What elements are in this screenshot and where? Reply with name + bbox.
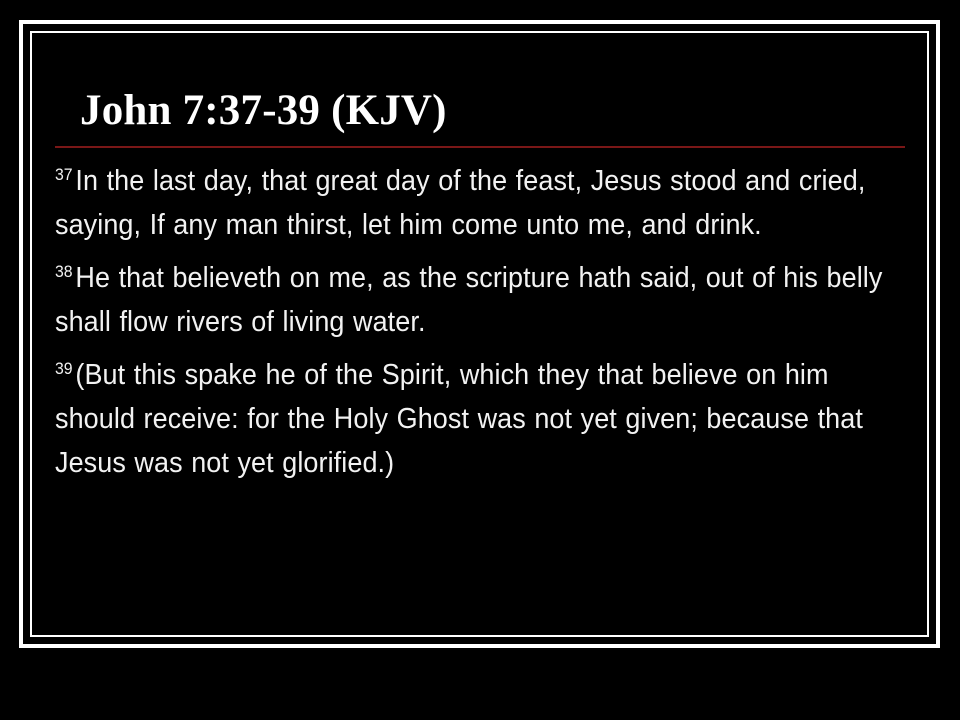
verse-paragraph: 38He that believeth on me, as the script… <box>55 256 903 344</box>
verse-number: 39 <box>55 359 75 378</box>
presentation-slide: John 7:37-39 (KJV) 37In the last day, th… <box>0 0 960 720</box>
verse-paragraph: 37In the last day, that great day of the… <box>55 159 903 247</box>
verse-number: 37 <box>55 165 75 184</box>
scripture-body: 37In the last day, that great day of the… <box>55 159 905 485</box>
verse-text: He that believeth on me, as the scriptur… <box>55 262 882 338</box>
slide-content: John 7:37-39 (KJV) 37In the last day, th… <box>55 88 905 618</box>
verse-text: In the last day, that great day of the f… <box>55 165 865 241</box>
verse-number: 38 <box>55 262 75 281</box>
verse-paragraph: 39(But this spake he of the Spirit, whic… <box>55 353 903 485</box>
title-divider-rule <box>55 146 905 148</box>
slide-title: John 7:37-39 (KJV) <box>55 88 905 134</box>
verse-text: (But this spake he of the Spirit, which … <box>55 359 863 479</box>
